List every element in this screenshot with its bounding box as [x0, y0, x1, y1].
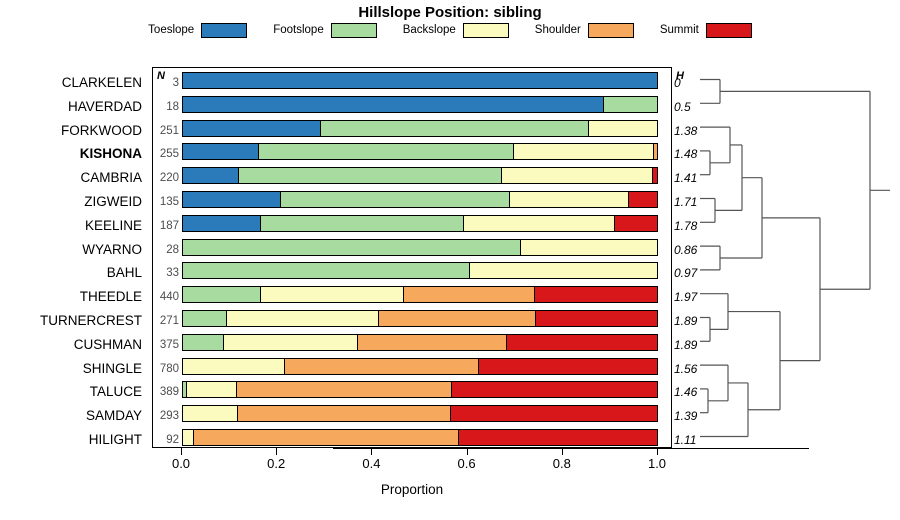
bar-segment-toeslope[interactable] — [183, 121, 321, 136]
bar-segment-toeslope[interactable] — [183, 192, 281, 207]
bar-segment-toeslope[interactable] — [183, 168, 239, 183]
bar-segment-toeslope[interactable] — [183, 97, 604, 112]
chart-row[interactable]: 780 — [153, 358, 673, 382]
chart-row[interactable]: 28 — [153, 239, 673, 263]
bar-segment-summit[interactable] — [459, 430, 657, 445]
row-count-n: 28 — [153, 245, 179, 257]
bar-segment-backslope[interactable] — [261, 287, 404, 302]
bar-segment-footslope[interactable] — [281, 192, 510, 207]
stacked-bar[interactable] — [182, 120, 658, 137]
taxa-label-turnercrest[interactable]: TURNERCREST — [40, 314, 142, 328]
legend-entry-shoulder[interactable]: Shoulder — [535, 23, 634, 38]
entropy-value: 0.5 — [674, 101, 691, 113]
stacked-bar[interactable] — [182, 143, 658, 160]
taxa-label-cambria[interactable]: CAMBRIA — [80, 171, 142, 185]
legend-label: Backslope — [403, 25, 456, 37]
bar-segment-summit[interactable] — [479, 359, 657, 374]
chart-row[interactable]: 293 — [153, 405, 673, 429]
legend: ToeslopeFootslopeBackslopeShoulderSummit — [0, 23, 900, 38]
x-tick-label: 0.4 — [362, 457, 380, 470]
bar-segment-footslope[interactable] — [321, 121, 589, 136]
stacked-bar[interactable] — [182, 72, 658, 89]
row-count-n: 251 — [153, 126, 179, 138]
chart-row[interactable]: 220 — [153, 167, 673, 191]
bar-segment-backslope[interactable] — [183, 430, 194, 445]
row-count-n: 135 — [153, 197, 179, 209]
stacked-bar[interactable] — [182, 262, 658, 279]
x-tick-mark — [657, 448, 658, 455]
bar-segment-backslope[interactable] — [464, 216, 616, 231]
legend-swatch-shoulder — [588, 23, 634, 38]
x-tick-mark — [276, 448, 277, 455]
taxa-label-hilight[interactable]: HILIGHT — [89, 433, 142, 447]
bar-segment-shoulder[interactable] — [404, 287, 535, 302]
bar-segment-shoulder[interactable] — [379, 311, 536, 326]
bar-segment-footslope[interactable] — [183, 263, 470, 278]
x-tick-label: 0.6 — [458, 457, 476, 470]
taxa-label-kishona[interactable]: KISHONA — [80, 147, 142, 161]
row-count-n: 18 — [153, 102, 179, 114]
row-count-n: 780 — [153, 364, 179, 376]
taxa-label-wyarno[interactable]: WYARNO — [82, 243, 142, 257]
taxa-label-taluce[interactable]: TALUCE — [90, 385, 142, 399]
stacked-bar[interactable] — [182, 191, 658, 208]
bar-segment-backslope[interactable] — [470, 263, 657, 278]
bar-segment-shoulder[interactable] — [358, 335, 507, 350]
stacked-bar[interactable] — [182, 286, 658, 303]
legend-entry-summit[interactable]: Summit — [660, 23, 752, 38]
bar-segment-backslope[interactable] — [183, 359, 285, 374]
dendrogram — [690, 60, 900, 460]
bar-segment-summit[interactable] — [451, 406, 657, 421]
chart-row[interactable]: 18 — [153, 96, 673, 120]
legend-entry-toeslope[interactable]: Toeslope — [148, 23, 247, 38]
legend-swatch-toeslope — [201, 23, 247, 38]
row-count-n: 389 — [153, 387, 179, 399]
chart-row[interactable]: 375 — [153, 334, 673, 358]
x-tick-mark — [467, 448, 468, 455]
dendrogram-svg — [690, 60, 900, 460]
taxa-label-theedle[interactable]: THEEDLE — [80, 290, 142, 304]
taxa-label-samday[interactable]: SAMDAY — [86, 409, 142, 423]
legend-label: Footslope — [273, 25, 324, 37]
bar-segment-footslope[interactable] — [183, 335, 224, 350]
taxa-label-bahl[interactable]: BAHL — [107, 266, 142, 280]
chart-row[interactable]: 271 — [153, 310, 673, 334]
row-count-n: 255 — [153, 149, 179, 161]
bar-segment-toeslope[interactable] — [183, 144, 259, 159]
row-count-n: 293 — [153, 411, 179, 423]
page-title: Hillslope Position: sibling — [0, 4, 900, 21]
stacked-bar[interactable] — [182, 381, 658, 398]
taxa-label-keeline[interactable]: KEELINE — [85, 219, 142, 233]
bar-segment-shoulder[interactable] — [194, 430, 459, 445]
chart-row[interactable]: 389 — [153, 381, 673, 405]
plot-area: 3182512552201351872833440271375780389293… — [152, 67, 672, 448]
legend-swatch-summit — [706, 23, 752, 38]
x-axis-title: Proportion — [152, 483, 672, 497]
bar-segment-backslope[interactable] — [502, 168, 653, 183]
row-count-n: 92 — [153, 435, 179, 447]
bar-segment-footslope[interactable] — [604, 97, 657, 112]
legend-swatch-backslope — [463, 23, 509, 38]
chart-row[interactable]: 251 — [153, 120, 673, 144]
bar-segment-backslope[interactable] — [589, 121, 657, 136]
row-count-n: 33 — [153, 268, 179, 280]
stacked-bar[interactable] — [182, 358, 658, 375]
chart-row[interactable]: 255 — [153, 143, 673, 167]
bar-segment-footslope[interactable] — [183, 287, 261, 302]
legend-entry-backslope[interactable]: Backslope — [403, 23, 509, 38]
legend-label: Toeslope — [148, 25, 194, 37]
x-tick-mark — [562, 448, 563, 455]
bar-segment-summit[interactable] — [653, 168, 657, 183]
bar-segment-toeslope[interactable] — [183, 73, 657, 88]
row-count-n: 220 — [153, 173, 179, 185]
legend-label: Shoulder — [535, 25, 581, 37]
legend-swatch-footslope — [331, 23, 377, 38]
x-tick-label: 0.8 — [553, 457, 571, 470]
stacked-bar[interactable] — [182, 215, 658, 232]
bar-segment-footslope[interactable] — [259, 144, 514, 159]
bar-segment-footslope[interactable] — [261, 216, 464, 231]
bar-segment-backslope[interactable] — [510, 192, 629, 207]
legend-entry-footslope[interactable]: Footslope — [273, 23, 377, 38]
column-header-n: N — [157, 70, 165, 82]
taxa-label-haverdad[interactable]: HAVERDAD — [68, 100, 142, 114]
chart-row[interactable]: 3 — [153, 72, 673, 96]
bar-segment-footslope[interactable] — [239, 168, 502, 183]
stacked-bar[interactable] — [182, 167, 658, 184]
bar-segment-summit[interactable] — [615, 216, 657, 231]
bar-segment-backslope[interactable] — [187, 382, 238, 397]
x-tick-label: 1.0 — [648, 457, 666, 470]
row-count-n: 271 — [153, 316, 179, 328]
bar-segment-shoulder[interactable] — [654, 144, 657, 159]
legend-label: Summit — [660, 25, 699, 37]
bar-segment-summit[interactable] — [536, 311, 657, 326]
bar-segment-backslope[interactable] — [514, 144, 653, 159]
bar-segment-summit[interactable] — [535, 287, 657, 302]
bar-segment-summit[interactable] — [507, 335, 657, 350]
entropy-value: 0 — [674, 77, 681, 89]
taxa-label-cushman[interactable]: CUSHMAN — [74, 338, 142, 352]
stacked-bar[interactable] — [182, 239, 658, 256]
bar-segment-summit[interactable] — [452, 382, 657, 397]
bar-segment-shoulder[interactable] — [285, 359, 479, 374]
bar-segment-backslope[interactable] — [183, 406, 238, 421]
stacked-bar[interactable] — [182, 334, 658, 351]
stacked-bar[interactable] — [182, 96, 658, 113]
chart-row[interactable]: 33 — [153, 262, 673, 286]
row-count-n: 187 — [153, 221, 179, 233]
row-count-n: 375 — [153, 340, 179, 352]
bar-segment-shoulder[interactable] — [238, 406, 451, 421]
bar-segment-footslope[interactable] — [183, 311, 227, 326]
x-tick-mark — [181, 448, 182, 455]
x-tick-label: 0.2 — [267, 457, 285, 470]
taxa-label-clarkelen[interactable]: CLARKELEN — [62, 76, 142, 90]
stacked-bar[interactable] — [182, 405, 658, 422]
x-tick-label: 0.0 — [172, 457, 190, 470]
chart-row[interactable]: 440 — [153, 286, 673, 310]
stacked-bar[interactable] — [182, 310, 658, 327]
bar-segment-backslope[interactable] — [521, 240, 657, 255]
chart-row[interactable]: 187 — [153, 215, 673, 239]
bar-segment-toeslope[interactable] — [183, 216, 261, 231]
taxa-label-forkwood[interactable]: FORKWOOD — [61, 124, 142, 138]
x-tick-mark — [371, 448, 372, 455]
bar-segment-shoulder[interactable] — [237, 382, 451, 397]
stacked-bar[interactable] — [182, 429, 658, 446]
chart-row[interactable]: 135 — [153, 191, 673, 215]
bar-segment-summit[interactable] — [629, 192, 656, 207]
taxa-label-shingle[interactable]: SHINGLE — [83, 362, 142, 376]
bar-segment-backslope[interactable] — [227, 311, 379, 326]
bar-segment-backslope[interactable] — [224, 335, 358, 350]
bar-segment-footslope[interactable] — [183, 240, 521, 255]
row-count-n: 440 — [153, 292, 179, 304]
taxa-label-zigweid[interactable]: ZIGWEID — [84, 195, 142, 209]
